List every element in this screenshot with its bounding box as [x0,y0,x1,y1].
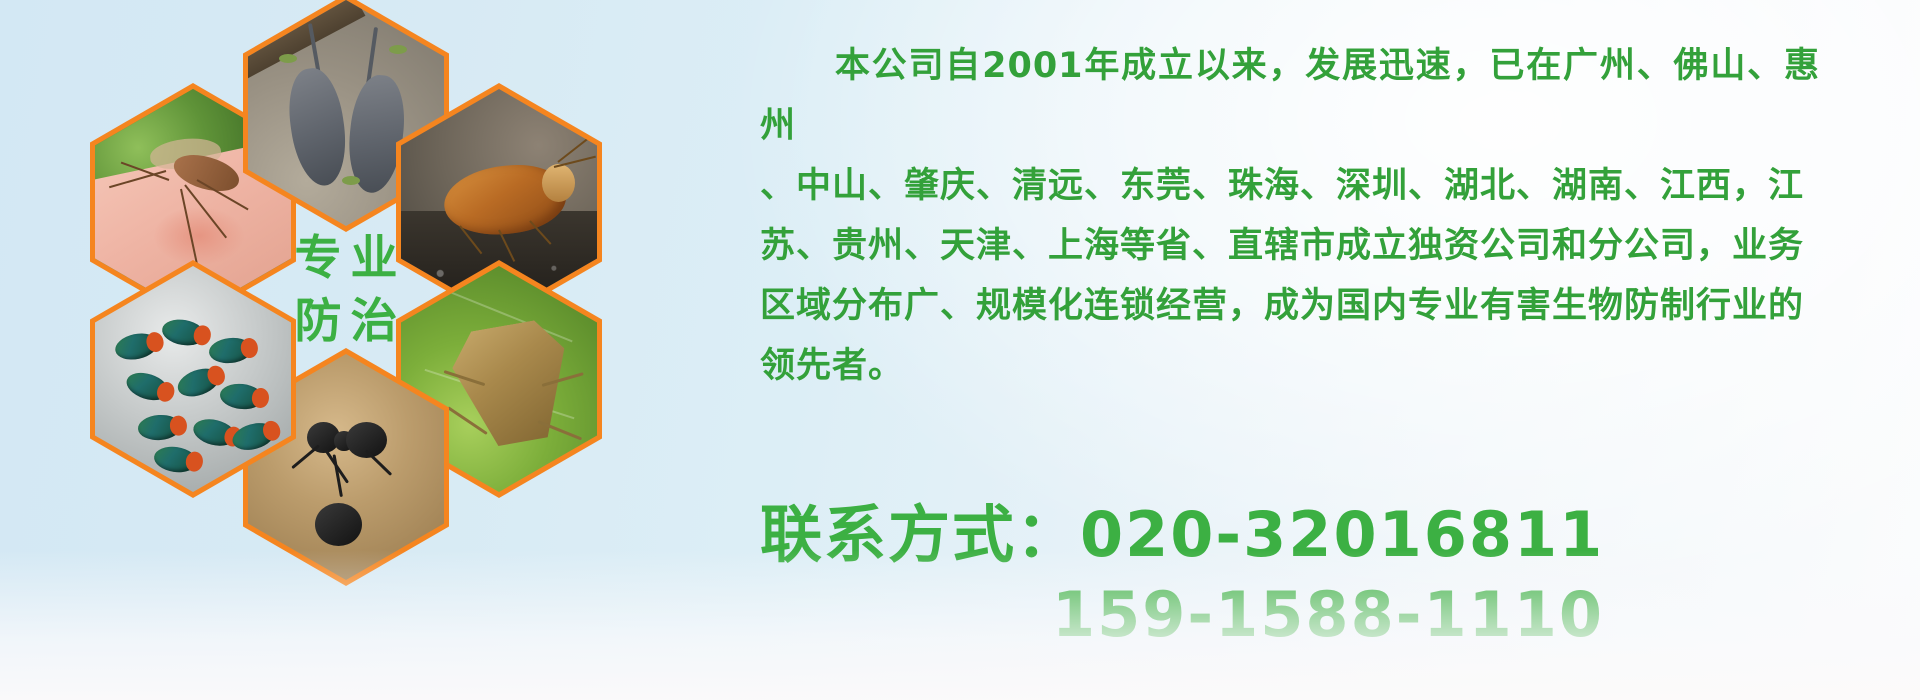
contact-block: 联系方式：020-32016811 159-1588-1110 [760,495,1840,655]
pest-control-banner: 专业 防治 本公司自2001年成立以来，发展迅速，已在广州、佛山、惠州 、中山、… [0,0,1920,700]
intro-line-1-text: 本公司自2001年成立以来，发展迅速，已在广州、佛山、惠州 [760,46,1820,146]
hexagon-photo-cluster: 专业 防治 [96,0,596,580]
company-intro-paragraph: 本公司自2001年成立以来，发展迅速，已在广州、佛山、惠州 、中山、肇庆、清远、… [760,36,1820,396]
contact-label: 联系方式： [760,498,1080,571]
intro-line-5: 领先者。 [760,336,1820,396]
intro-line-3: 苏、贵州、天津、上海等省、直辖市成立独资公司和分公司，业务 [760,216,1820,276]
contact-line-landline: 联系方式：020-32016811 [760,495,1840,575]
contact-phone-landline[interactable]: 020-32016811 [1080,498,1604,571]
intro-line-1: 本公司自2001年成立以来，发展迅速，已在广州、佛山、惠州 [760,36,1820,156]
contact-line-mobile: 159-1588-1110 [760,575,1840,655]
intro-line-2: 、中山、肇庆、清远、东莞、珠海、深圳、湖北、湖南、江西，江 [760,156,1820,216]
slogan-line-1: 专业 [286,231,407,286]
contact-phone-mobile[interactable]: 159-1588-1110 [1052,578,1604,651]
slogan-line-2: 防治 [286,294,407,349]
intro-line-4: 区域分布广、规模化连锁经营，成为国内专业有害生物防制行业的 [760,276,1820,336]
